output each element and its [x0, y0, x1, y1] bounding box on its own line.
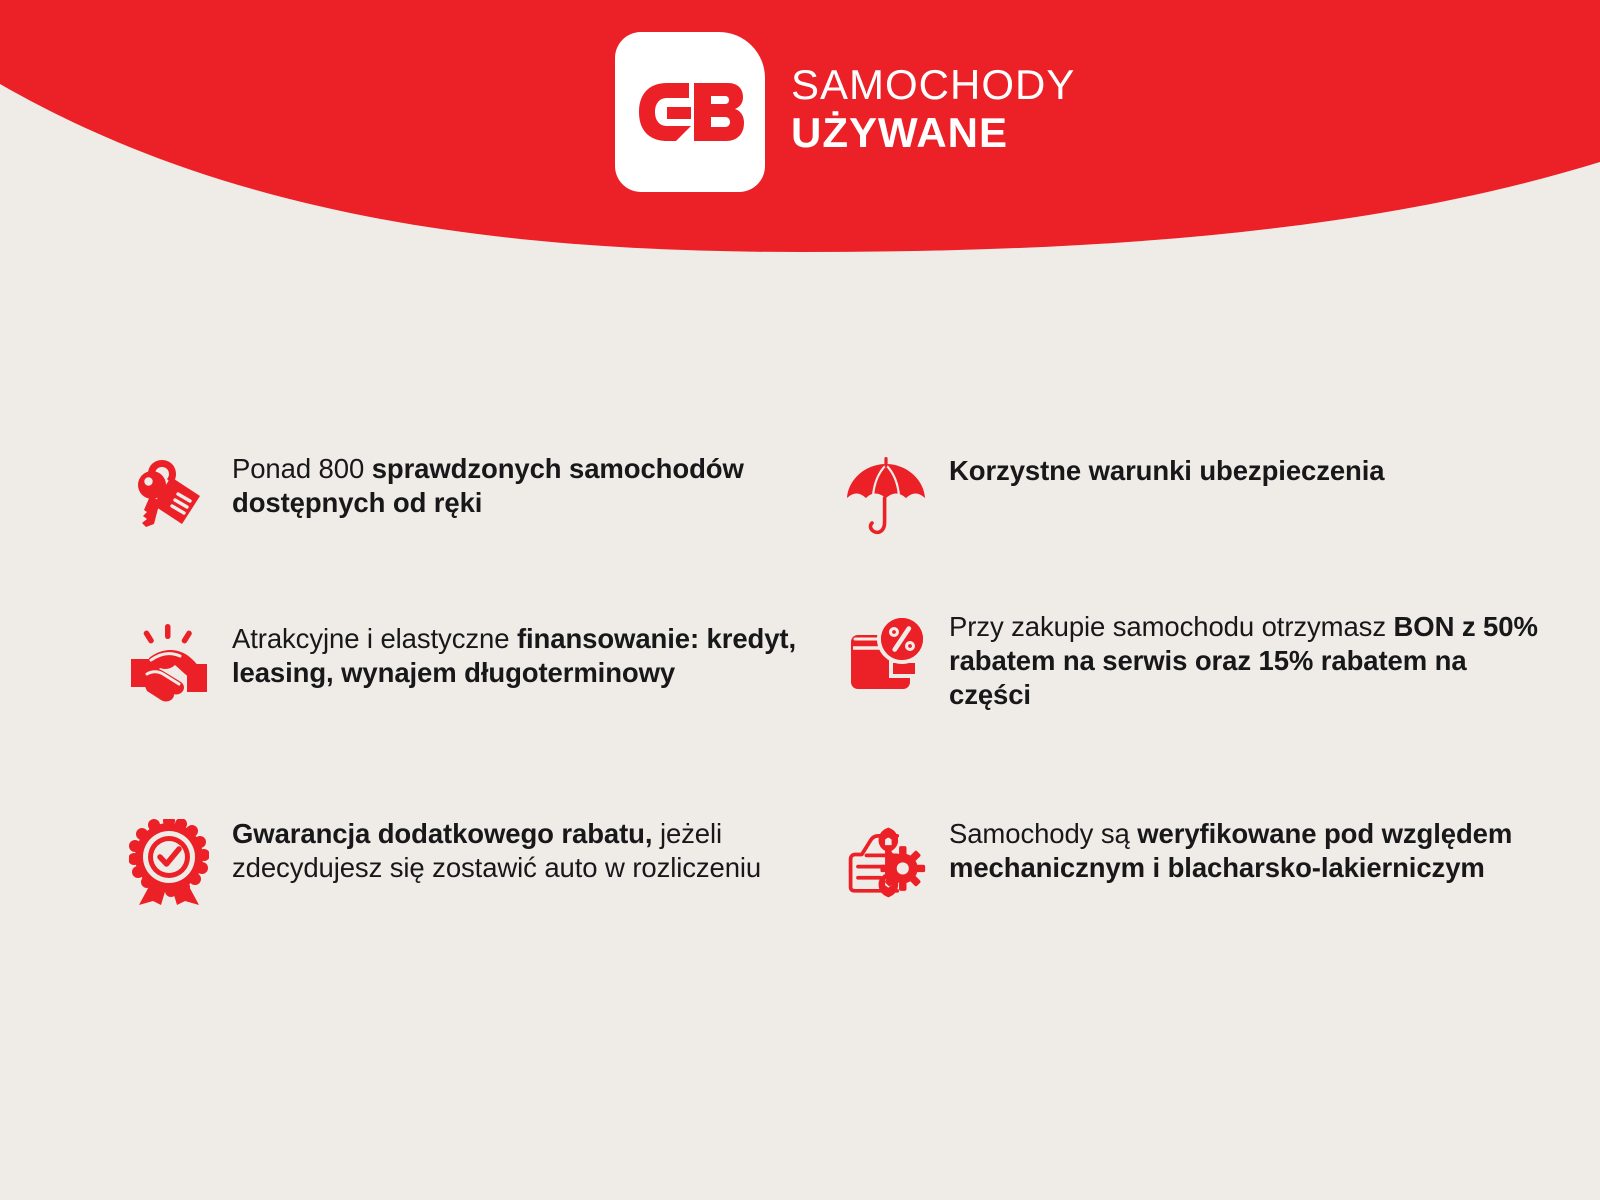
feature-item-financing: Atrakcyjne i elastyczne finansowanie: kr… — [128, 620, 832, 716]
brand-line-uzywane: UŻYWANE — [791, 112, 1075, 154]
feature-item-inspection: Samochody są weryfikowane pod względem m… — [845, 815, 1549, 911]
brand-lockup: SAMOCHODY UŻYWANE — [615, 32, 1075, 192]
feature-text-insurance: Korzystne warunki ubezpieczenia — [949, 452, 1385, 488]
award-badge-check-icon — [128, 815, 210, 911]
brand-wordmark: SAMOCHODY UŻYWANE — [791, 64, 1075, 160]
umbrella-icon — [845, 452, 927, 548]
feature-plain-r2: Przy zakupie samochodu otrzymasz — [949, 611, 1394, 642]
handshake-icon — [128, 620, 210, 716]
feature-text-inspection: Samochody są weryfikowane pod względem m… — [949, 815, 1549, 885]
feature-text-guarantee: Gwarancja dodatkowego rabatu, jeżeli zde… — [232, 815, 832, 885]
feature-plain-1: Ponad 800 — [232, 453, 372, 484]
feature-plain-r3: Samochody są — [949, 818, 1137, 849]
car-wrench-gear-icon — [845, 815, 927, 911]
feature-item-keys: Ponad 800 sprawdzonych samochodów dostęp… — [128, 450, 832, 546]
feature-item-insurance: Korzystne warunki ubezpieczenia — [845, 452, 1385, 548]
feature-bold-r1: Korzystne warunki ubezpieczenia — [949, 455, 1385, 486]
wallet-percent-icon — [845, 608, 927, 704]
feature-item-guarantee: Gwarancja dodatkowego rabatu, jeżeli zde… — [128, 815, 832, 911]
feature-text-keys: Ponad 800 sprawdzonych samochodów dostęp… — [232, 450, 832, 520]
brand-line-samochody: SAMOCHODY — [791, 64, 1075, 106]
header-banner: SAMOCHODY UŻYWANE — [0, 0, 1600, 260]
feature-item-voucher: Przy zakupie samochodu otrzymasz BON z 5… — [845, 608, 1549, 712]
feature-bold-3: Gwarancja dodatkowego rabatu, — [232, 818, 660, 849]
gb-monogram-icon — [636, 81, 744, 143]
car-keys-icon — [128, 450, 210, 546]
logo-tile[interactable] — [615, 32, 765, 192]
feature-text-voucher: Przy zakupie samochodu otrzymasz BON z 5… — [949, 608, 1549, 712]
feature-plain-2: Atrakcyjne i elastyczne — [232, 623, 517, 654]
feature-text-financing: Atrakcyjne i elastyczne finansowanie: kr… — [232, 620, 832, 690]
